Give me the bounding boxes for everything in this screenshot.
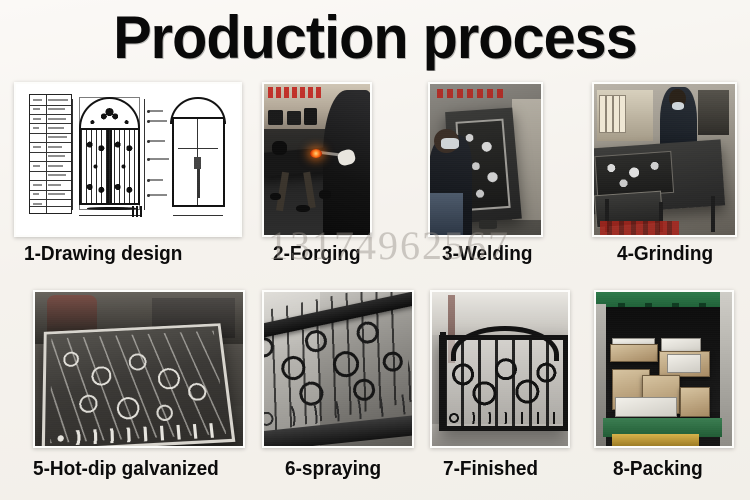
- step-card-8[interactable]: [594, 290, 734, 448]
- step-image-6[interactable]: [262, 290, 414, 448]
- step-image-8[interactable]: [594, 290, 734, 448]
- step-caption-7: 7-Finished: [443, 458, 538, 481]
- step-caption-6: 6-spraying: [285, 458, 381, 481]
- step-image-1[interactable]: [14, 82, 242, 237]
- spraying-photo: [264, 292, 412, 446]
- step-card-3[interactable]: [428, 82, 543, 237]
- page-title: Production process: [15, 6, 735, 70]
- step-card-5[interactable]: [33, 290, 245, 448]
- step-caption-1: 1-Drawing design: [24, 243, 182, 266]
- process-row-top: [0, 82, 750, 237]
- step-image-7[interactable]: [430, 290, 570, 448]
- finished-gate-photo: [432, 292, 568, 446]
- step-image-3[interactable]: [428, 82, 543, 237]
- packing-photo: [596, 292, 732, 446]
- poster-root: Production process: [0, 0, 750, 500]
- step-image-4[interactable]: [592, 82, 737, 237]
- step-card-4[interactable]: [592, 82, 737, 237]
- grinding-photo: [594, 84, 735, 235]
- step-caption-5: 5-Hot-dip galvanized: [33, 458, 219, 481]
- step-card-6[interactable]: [262, 290, 414, 448]
- step-image-2[interactable]: [262, 82, 372, 237]
- welding-photo: [430, 84, 541, 235]
- step-image-5[interactable]: [33, 290, 245, 448]
- forging-photo: [264, 84, 370, 235]
- step-card-7[interactable]: [430, 290, 570, 448]
- galvanized-photo: [35, 292, 243, 446]
- step-caption-4: 4-Grinding: [617, 243, 713, 266]
- step-caption-8: 8-Packing: [613, 458, 703, 481]
- step-caption-3: 3-Welding: [442, 243, 532, 266]
- step-card-2[interactable]: [262, 82, 372, 237]
- step-caption-2: 2-Forging: [273, 243, 361, 266]
- process-row-bottom: [0, 290, 750, 448]
- step-card-1[interactable]: [14, 82, 242, 237]
- cad-drawing-icon: [16, 84, 240, 235]
